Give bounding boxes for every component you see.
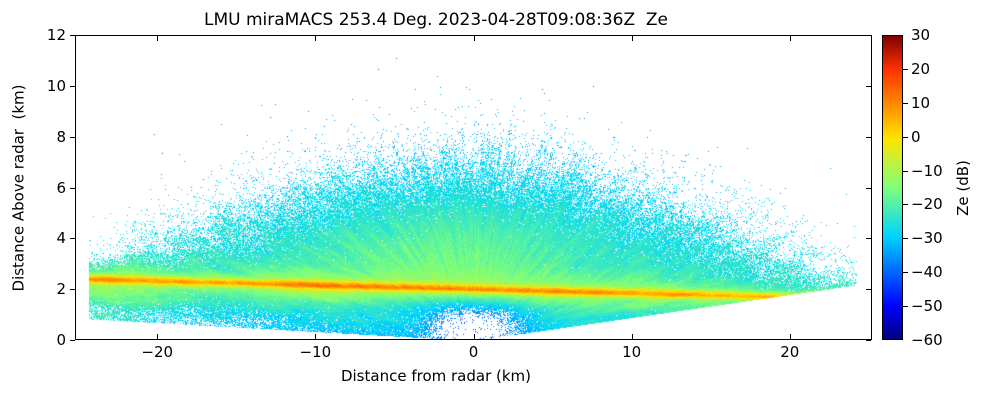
x-tick-top bbox=[157, 36, 158, 41]
x-tick-top bbox=[474, 36, 475, 41]
y-tick-label: 12 bbox=[47, 26, 66, 44]
colorbar-tick-label: −60 bbox=[911, 331, 943, 349]
colorbar-tick-label: −50 bbox=[911, 297, 943, 315]
radar-figure: LMU miraMACS 253.4 Deg. 2023-04-28T09:08… bbox=[0, 0, 1000, 400]
y-tick-label: 6 bbox=[56, 179, 66, 197]
colorbar bbox=[882, 35, 903, 340]
colorbar-tick-label: −10 bbox=[911, 162, 943, 180]
y-tick-right bbox=[866, 289, 871, 290]
y-axis-title-text: Distance Above radar (km) bbox=[9, 84, 27, 291]
y-tick-label: 2 bbox=[56, 280, 66, 298]
x-tick bbox=[157, 334, 158, 339]
colorbar-title: Ze (dB) bbox=[952, 35, 974, 340]
y-tick-right bbox=[866, 340, 871, 341]
y-tick-label: 10 bbox=[47, 77, 66, 95]
colorbar-tick-label: −20 bbox=[911, 195, 943, 213]
x-tick-label: 10 bbox=[622, 343, 641, 361]
colorbar-tick bbox=[903, 103, 908, 104]
colorbar-title-text: Ze (dB) bbox=[954, 160, 972, 216]
x-tick bbox=[632, 334, 633, 339]
plot-axes bbox=[75, 35, 872, 340]
x-tick bbox=[315, 334, 316, 339]
y-tick-right bbox=[866, 238, 871, 239]
colorbar-tick-label: 30 bbox=[911, 26, 930, 44]
colorbar-tick bbox=[903, 272, 908, 273]
page-title: LMU miraMACS 253.4 Deg. 2023-04-28T09:08… bbox=[0, 10, 872, 30]
colorbar-tick bbox=[903, 171, 908, 172]
colorbar-tick bbox=[903, 238, 908, 239]
y-axis-title: Distance Above radar (km) bbox=[8, 35, 28, 340]
colorbar-tick bbox=[903, 204, 908, 205]
x-tick-top bbox=[632, 36, 633, 41]
x-tick-label: 20 bbox=[780, 343, 799, 361]
colorbar-tick-label: −30 bbox=[911, 229, 943, 247]
x-tick-top bbox=[790, 36, 791, 41]
y-tick bbox=[70, 238, 75, 239]
colorbar-tick-label: 20 bbox=[911, 60, 930, 78]
radar-reflectivity-heatmap bbox=[76, 36, 871, 339]
x-tick-top bbox=[315, 36, 316, 41]
colorbar-tick-label: 10 bbox=[911, 94, 930, 112]
y-tick bbox=[70, 86, 75, 87]
colorbar-tick bbox=[903, 306, 908, 307]
y-tick bbox=[70, 35, 75, 36]
y-tick bbox=[70, 340, 75, 341]
colorbar-tick-label: 0 bbox=[911, 128, 921, 146]
colorbar-tick bbox=[903, 137, 908, 138]
x-axis-title: Distance from radar (km) bbox=[0, 367, 872, 385]
y-tick-label: 4 bbox=[56, 229, 66, 247]
y-tick-right bbox=[866, 137, 871, 138]
y-tick-label: 8 bbox=[56, 128, 66, 146]
y-tick bbox=[70, 188, 75, 189]
y-tick-right bbox=[866, 188, 871, 189]
x-tick bbox=[474, 334, 475, 339]
y-tick-label: 0 bbox=[56, 331, 66, 349]
x-tick bbox=[790, 334, 791, 339]
x-tick-label: 0 bbox=[469, 343, 479, 361]
colorbar-tick-label: −40 bbox=[911, 263, 943, 281]
y-tick bbox=[70, 289, 75, 290]
y-tick-right bbox=[866, 86, 871, 87]
x-tick-label: −10 bbox=[300, 343, 332, 361]
colorbar-gradient bbox=[883, 36, 902, 339]
y-tick bbox=[70, 137, 75, 138]
colorbar-tick bbox=[903, 69, 908, 70]
y-tick-right bbox=[866, 35, 871, 36]
x-tick-label: −20 bbox=[141, 343, 173, 361]
